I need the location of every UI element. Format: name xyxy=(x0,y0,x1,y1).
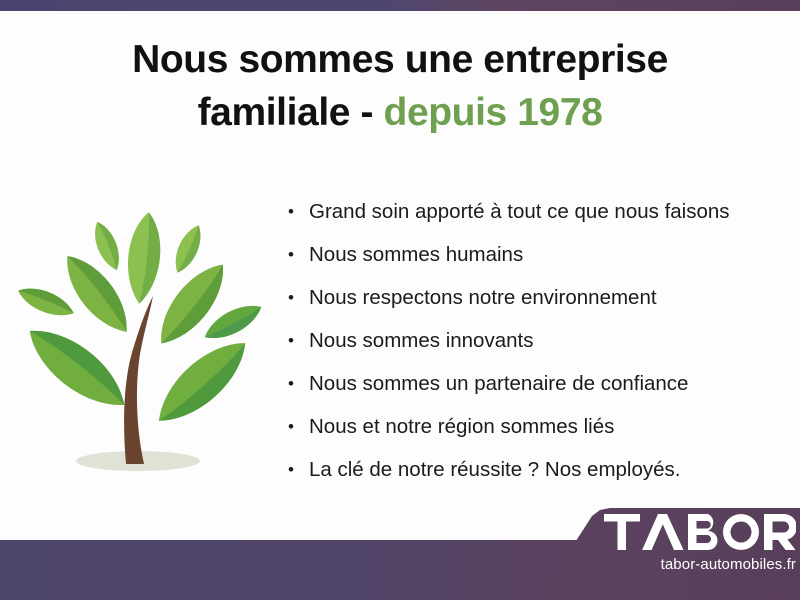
headline-line-1: Nous sommes une entreprise xyxy=(132,38,668,81)
tabor-wordmark xyxy=(604,512,796,552)
list-item: Nous sommes un partenaire de confiance xyxy=(286,362,786,405)
list-item: Nous respectons notre environnement xyxy=(286,276,786,319)
leaf-lower-left xyxy=(17,315,137,421)
list-item: Grand soin apporté à tout ce que nous fa… xyxy=(286,190,786,233)
list-item: Nous sommes innovants xyxy=(286,319,786,362)
leaf-top-small-left xyxy=(89,218,126,273)
list-item: La clé de notre réussite ? Nos employés. xyxy=(286,448,786,491)
list-item: Nous sommes humains xyxy=(286,233,786,276)
page-title: Nous sommes une entreprise familiale - d… xyxy=(60,34,740,139)
slide-canvas: Nous sommes une entreprise familiale - d… xyxy=(0,0,800,600)
list-item: Nous et notre région sommes liés xyxy=(286,405,786,448)
leaf-lower-right xyxy=(146,329,258,436)
top-accent-bar xyxy=(0,0,800,11)
leaf-top-small-right xyxy=(169,221,207,276)
leaf-far-left xyxy=(14,281,77,322)
leaf-top-center xyxy=(124,211,165,306)
headline-line-2-plain: familiale - xyxy=(198,91,384,134)
tree-trunk xyxy=(124,296,153,464)
leaf-upper-left xyxy=(54,246,139,342)
tree-illustration xyxy=(14,196,266,488)
headline-line-2-accent: depuis 1978 xyxy=(384,91,603,134)
logo-tagline: tabor-automobiles.fr xyxy=(604,556,796,573)
leaf-upper-right xyxy=(148,254,237,354)
value-bullet-list: Grand soin apporté à tout ce que nous fa… xyxy=(286,190,786,491)
